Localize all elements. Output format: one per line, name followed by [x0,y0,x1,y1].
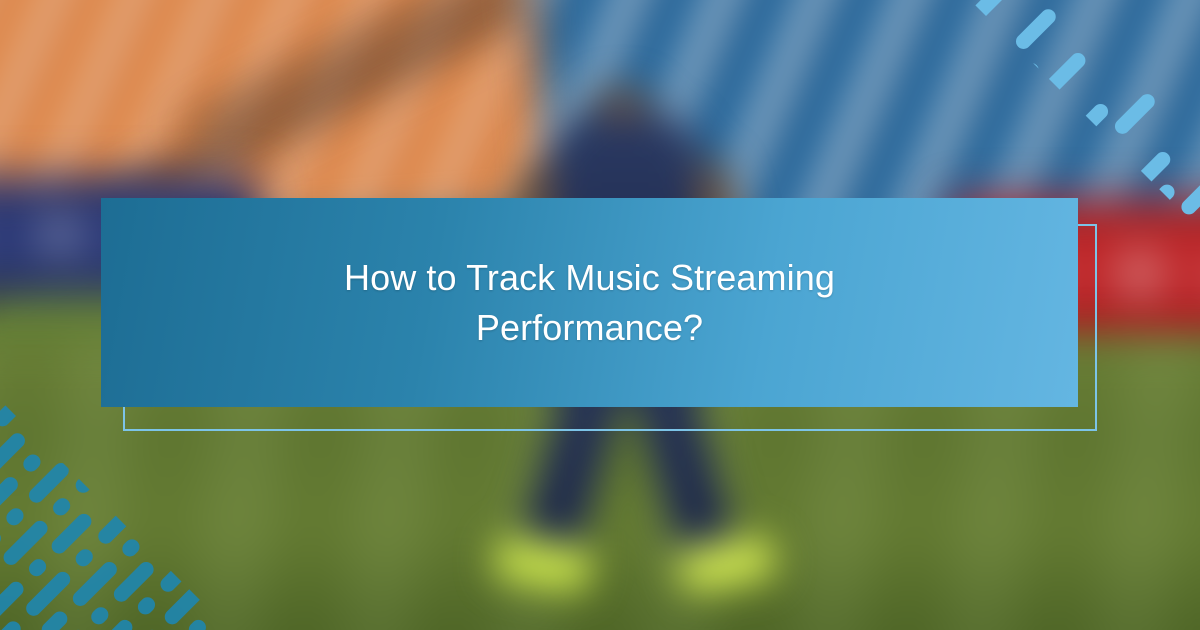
page-title: How to Track Music Streaming Performance… [270,253,910,353]
title-card: How to Track Music Streaming Performance… [101,198,1078,407]
hero-card-canvas: How to Track Music Streaming Performance… [0,0,1200,630]
